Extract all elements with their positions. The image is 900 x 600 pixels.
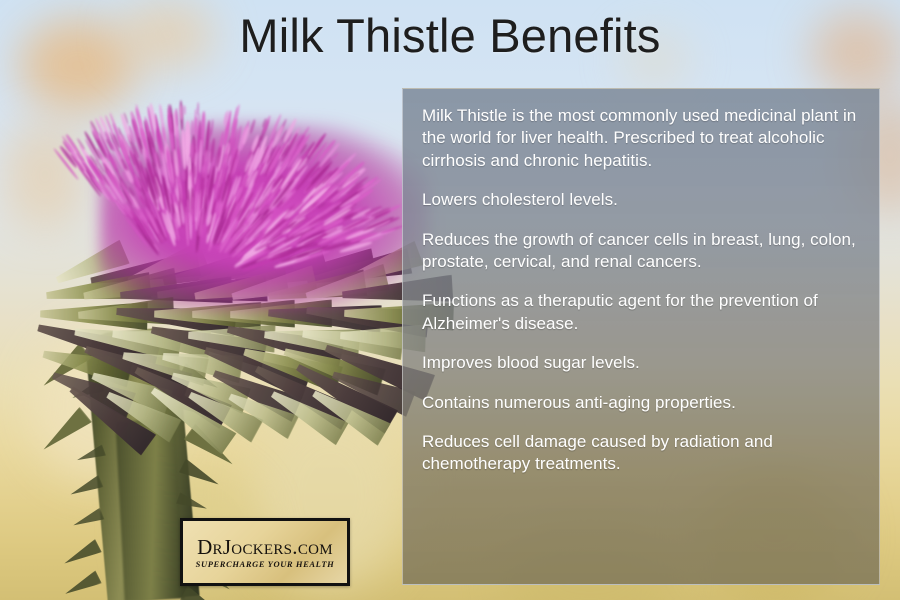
thistle-stem-shadow	[115, 419, 184, 600]
stem-thorn	[60, 538, 101, 569]
brand-logo-tagline: SUPERCHARGE YOUR HEALTH	[196, 559, 335, 569]
flower-filament	[182, 170, 186, 182]
benefit-paragraph: Milk Thistle is the most commonly used m…	[422, 105, 859, 172]
benefit-paragraph: Reduces the growth of cancer cells in br…	[422, 229, 859, 274]
flower-filament	[192, 165, 195, 178]
benefit-paragraph: Lowers cholesterol levels.	[422, 189, 859, 211]
benefit-paragraph: Contains numerous anti-aging properties.	[422, 392, 859, 414]
stem-thorn	[71, 508, 105, 531]
flower-filament	[191, 209, 193, 223]
stem-thorn	[62, 571, 102, 600]
flower-filament	[201, 165, 206, 179]
benefit-paragraph: Functions as a theraputic agent for the …	[422, 290, 859, 335]
page-title: Milk Thistle Benefits	[0, 6, 900, 66]
flower-filament	[194, 117, 198, 136]
thistle-plant-photo	[0, 0, 420, 600]
stem-thorn	[179, 586, 225, 600]
benefits-panel: Milk Thistle is the most commonly used m…	[402, 88, 880, 585]
infographic-poster: Milk Thistle Benefits DrJockers.com SUPE…	[0, 0, 900, 600]
brand-logo-name: DrJockers.com	[197, 536, 333, 558]
thistle-flower-head	[40, 52, 420, 302]
brand-logo-name-text: DrJockers.com	[197, 535, 333, 559]
benefit-paragraph: Reduces cell damage caused by radiation …	[422, 431, 859, 476]
benefit-paragraph: Improves blood sugar levels.	[422, 352, 859, 374]
brand-logo[interactable]: DrJockers.com SUPERCHARGE YOUR HEALTH	[180, 518, 350, 586]
